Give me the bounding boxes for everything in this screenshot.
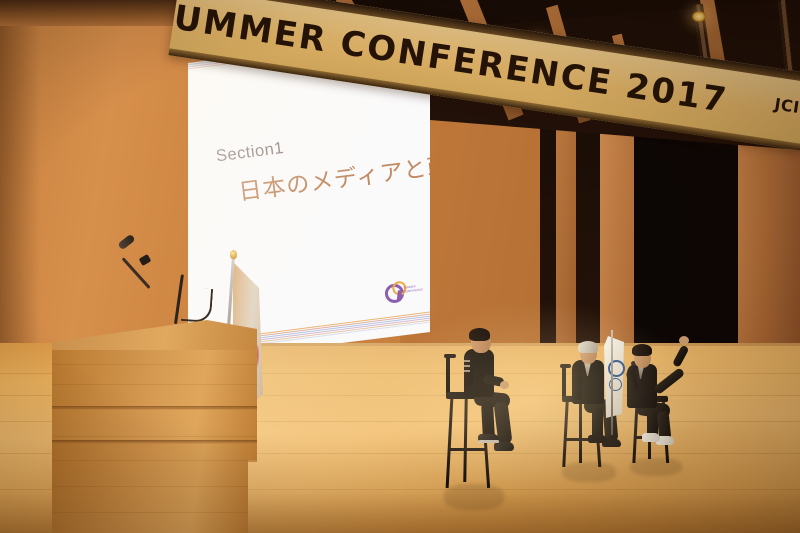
- logo-subtext: SUMMER CONFERENCE: [403, 284, 423, 294]
- ceiling-spotlight-icon: [692, 11, 706, 22]
- flag-pole: [611, 330, 613, 435]
- hair: [632, 344, 652, 356]
- lectern-groove: [52, 440, 257, 444]
- flag-finial: [230, 250, 237, 259]
- raised-hand: [679, 336, 689, 345]
- panelist-left: [452, 330, 522, 460]
- hand: [500, 381, 509, 389]
- banner-jci-logo: JCI: [773, 94, 800, 117]
- arm: [572, 366, 582, 400]
- sleeve-stripe: [464, 360, 470, 374]
- hair: [578, 341, 598, 353]
- shoe: [588, 435, 607, 443]
- summer-conference-logo-icon: SUMMER CONFERENCE: [384, 279, 421, 305]
- raised-arm: [653, 367, 685, 395]
- shoe-sole: [478, 440, 499, 443]
- lectern-base: [52, 440, 248, 533]
- stage-photo-scene: Section1 日本のメディアと政治 JCI JUNIOR CHAMBER I…: [0, 0, 800, 533]
- hair: [469, 328, 490, 341]
- slide-section-label: Section1: [215, 139, 285, 167]
- shoe: [494, 442, 514, 451]
- white-sneaker: [642, 433, 660, 442]
- panelist-right: [620, 344, 700, 456]
- stool-back: [446, 356, 450, 396]
- lectern-groove: [52, 406, 257, 410]
- lectern: [52, 320, 257, 533]
- raised-forearm: [672, 345, 689, 368]
